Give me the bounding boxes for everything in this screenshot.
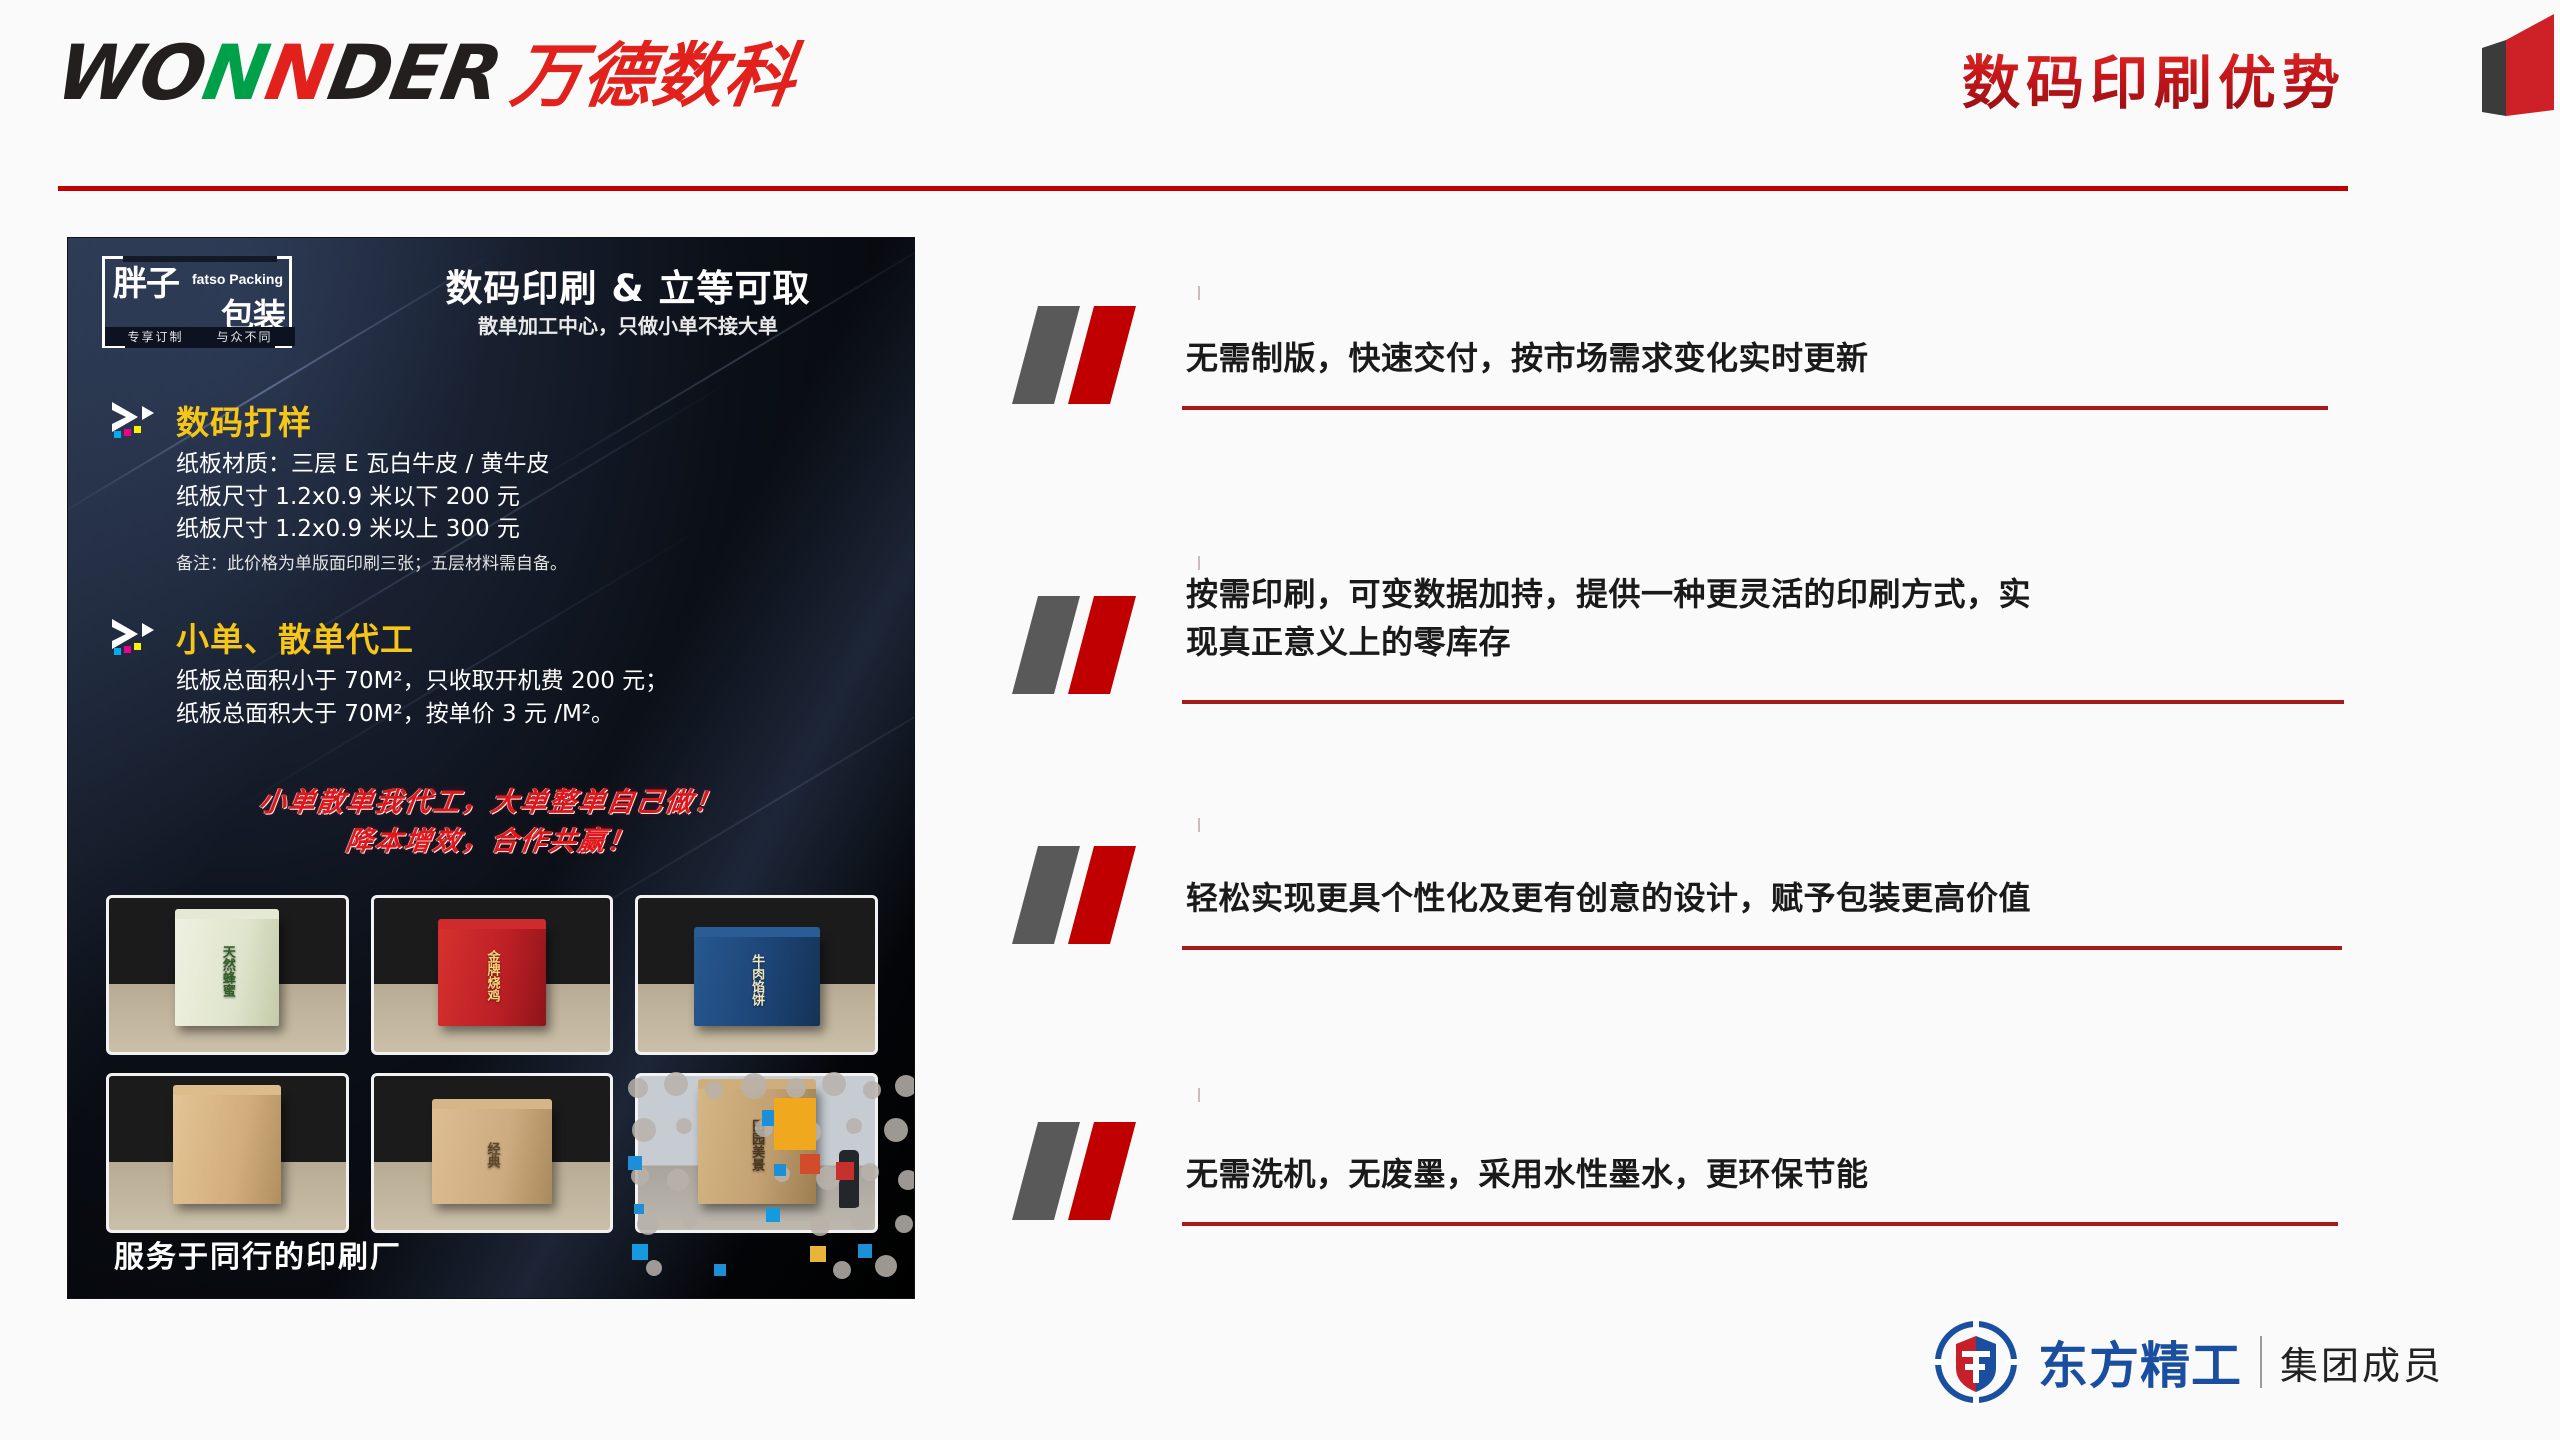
- tick-mark: [1198, 818, 1200, 832]
- bullet-underline: [1182, 1222, 2338, 1226]
- section-title: 数码打样: [176, 396, 312, 444]
- page-header: WONNDER 万德数科 数码印刷优势: [0, 0, 2560, 190]
- fatso-sub-left: 专享订制: [127, 328, 183, 345]
- section-title: 小单、散单代工: [176, 613, 414, 661]
- poster-header-band: 胖子 fatso Packing 包装 专享订制 与众不同 数码印刷 & 立等可…: [68, 238, 914, 370]
- tick-mark: [1198, 286, 1200, 300]
- product-photo-classic-kraft-pair-box: 经典: [371, 1073, 614, 1233]
- chevron-cmyk-icon: [108, 400, 162, 440]
- fatso-logo-en: fatso Packing: [192, 271, 283, 287]
- bullet-underline: [1182, 700, 2344, 704]
- folded-panel-icon: [2430, 0, 2560, 120]
- header-divider: [58, 186, 2348, 191]
- product-label: 金牌烧鸡: [438, 926, 546, 1026]
- poster-section-small-batch-oem: 小单、散单代工 纸板总面积小于 70M²，只收取开机费 200 元； 纸板总面积…: [108, 613, 888, 730]
- double-slash-marker-icon: [1010, 590, 1190, 702]
- bullet-on-demand: 按需印刷，可变数据加持，提供一种更灵活的印刷方式，实 现真正意义上的零库存: [1010, 552, 2350, 666]
- product-photo-beef-carton-box: 牛肉馅饼: [635, 895, 878, 1055]
- bullet-no-plate: 无需制版，快速交付，按市场需求变化实时更新: [1010, 300, 2350, 382]
- slogan-line: 降本增效，合作共赢！: [68, 822, 914, 861]
- product-photo-kraft-handle-box: [106, 1073, 349, 1233]
- section-line: 纸板尺寸 1.2x0.9 米以上 300 元: [176, 513, 888, 546]
- bullet-text: 按需印刷，可变数据加持，提供一种更灵活的印刷方式，实 现真正意义上的零库存: [1186, 552, 2350, 666]
- fatso-sub-right: 与众不同: [216, 328, 272, 345]
- tick-mark: [1198, 556, 1200, 570]
- section-line: 纸板材质：三层 E 瓦白牛皮 / 黄牛皮: [176, 448, 888, 481]
- halftone-dot-pattern: [614, 1068, 914, 1298]
- dfjg-company-name: 东方精工: [2038, 1326, 2242, 1398]
- brand-chinese-text: 万德数科: [508, 44, 801, 108]
- dfjg-circle-shield-icon: [1932, 1318, 2020, 1406]
- section-line: 纸板总面积小于 70M²，只收取开机费 200 元；: [176, 665, 888, 698]
- poster-section-digital-proofing: 数码打样 纸板材质：三层 E 瓦白牛皮 / 黄牛皮 纸板尺寸 1.2x0.9 米…: [108, 396, 888, 574]
- brand-latin-text: WONNDER: [52, 38, 507, 108]
- promo-poster-image: 胖子 fatso Packing 包装 专享订制 与众不同 数码印刷 & 立等可…: [68, 238, 914, 1298]
- page-title: 数码印刷优势: [1962, 36, 2346, 120]
- fatso-packing-logo: 胖子 fatso Packing 包装 专享订制 与众不同: [102, 256, 292, 348]
- product-label: 天然蜂蜜: [175, 916, 279, 1026]
- tick-mark: [1198, 1088, 1200, 1102]
- slogan-line: 小单散单我代工，大单整单自己做！: [68, 783, 914, 822]
- bullet-text: 无需制版，快速交付，按市场需求变化实时更新: [1186, 300, 2350, 382]
- dfjg-member-label: 集团成员: [2280, 1335, 2444, 1390]
- poster-head-subtitle: 散单加工中心，只做小单不接大单: [368, 310, 888, 339]
- bullet-creative-design: 轻松实现更具个性化及更有创意的设计，赋予包装更高价值: [1010, 840, 2350, 922]
- bullet-underline: [1182, 946, 2342, 950]
- fatso-logo-subtitle: 专享订制 与众不同: [105, 327, 295, 346]
- section-line: 纸板总面积大于 70M²，按单价 3 元 /M²。: [176, 698, 888, 731]
- double-slash-marker-icon: [1010, 300, 1190, 412]
- chevron-cmyk-icon: [108, 617, 162, 657]
- product-label: 经典: [432, 1106, 552, 1204]
- double-slash-marker-icon: [1010, 1116, 1190, 1228]
- wonder-brand-logo: WONNDER 万德数科: [58, 38, 796, 108]
- product-photo-red-meat-gift-box: 金牌烧鸡: [371, 895, 614, 1055]
- bullet-eco-friendly: 无需洗机，无废墨，采用水性墨水，更环保节能: [1010, 1100, 2350, 1198]
- dfjg-footer-logo: 东方精工 集团成员: [1932, 1318, 2444, 1406]
- product-photo-honey-gift-box: 天然蜂蜜: [106, 895, 349, 1055]
- poster-head-title: 数码印刷 & 立等可取: [368, 258, 888, 312]
- footer-divider: [2260, 1336, 2262, 1388]
- section-line: 纸板尺寸 1.2x0.9 米以下 200 元: [176, 481, 888, 514]
- product-label: [173, 1092, 281, 1204]
- bullet-text: 无需洗机，无废墨，采用水性墨水，更环保节能: [1186, 1100, 2350, 1198]
- product-label: 牛肉馅饼: [694, 934, 820, 1026]
- bullet-text: 轻松实现更具个性化及更有创意的设计，赋予包装更高价值: [1186, 840, 2350, 922]
- poster-footer-text: 服务于同行的印刷厂: [114, 1232, 402, 1276]
- bullet-underline: [1182, 406, 2328, 410]
- section-note: 备注：此价格为单版面印刷三张；五层材料需自备。: [176, 549, 888, 574]
- double-slash-marker-icon: [1010, 840, 1190, 952]
- poster-slogan: 小单散单我代工，大单整单自己做！ 降本增效，合作共赢！: [68, 783, 914, 861]
